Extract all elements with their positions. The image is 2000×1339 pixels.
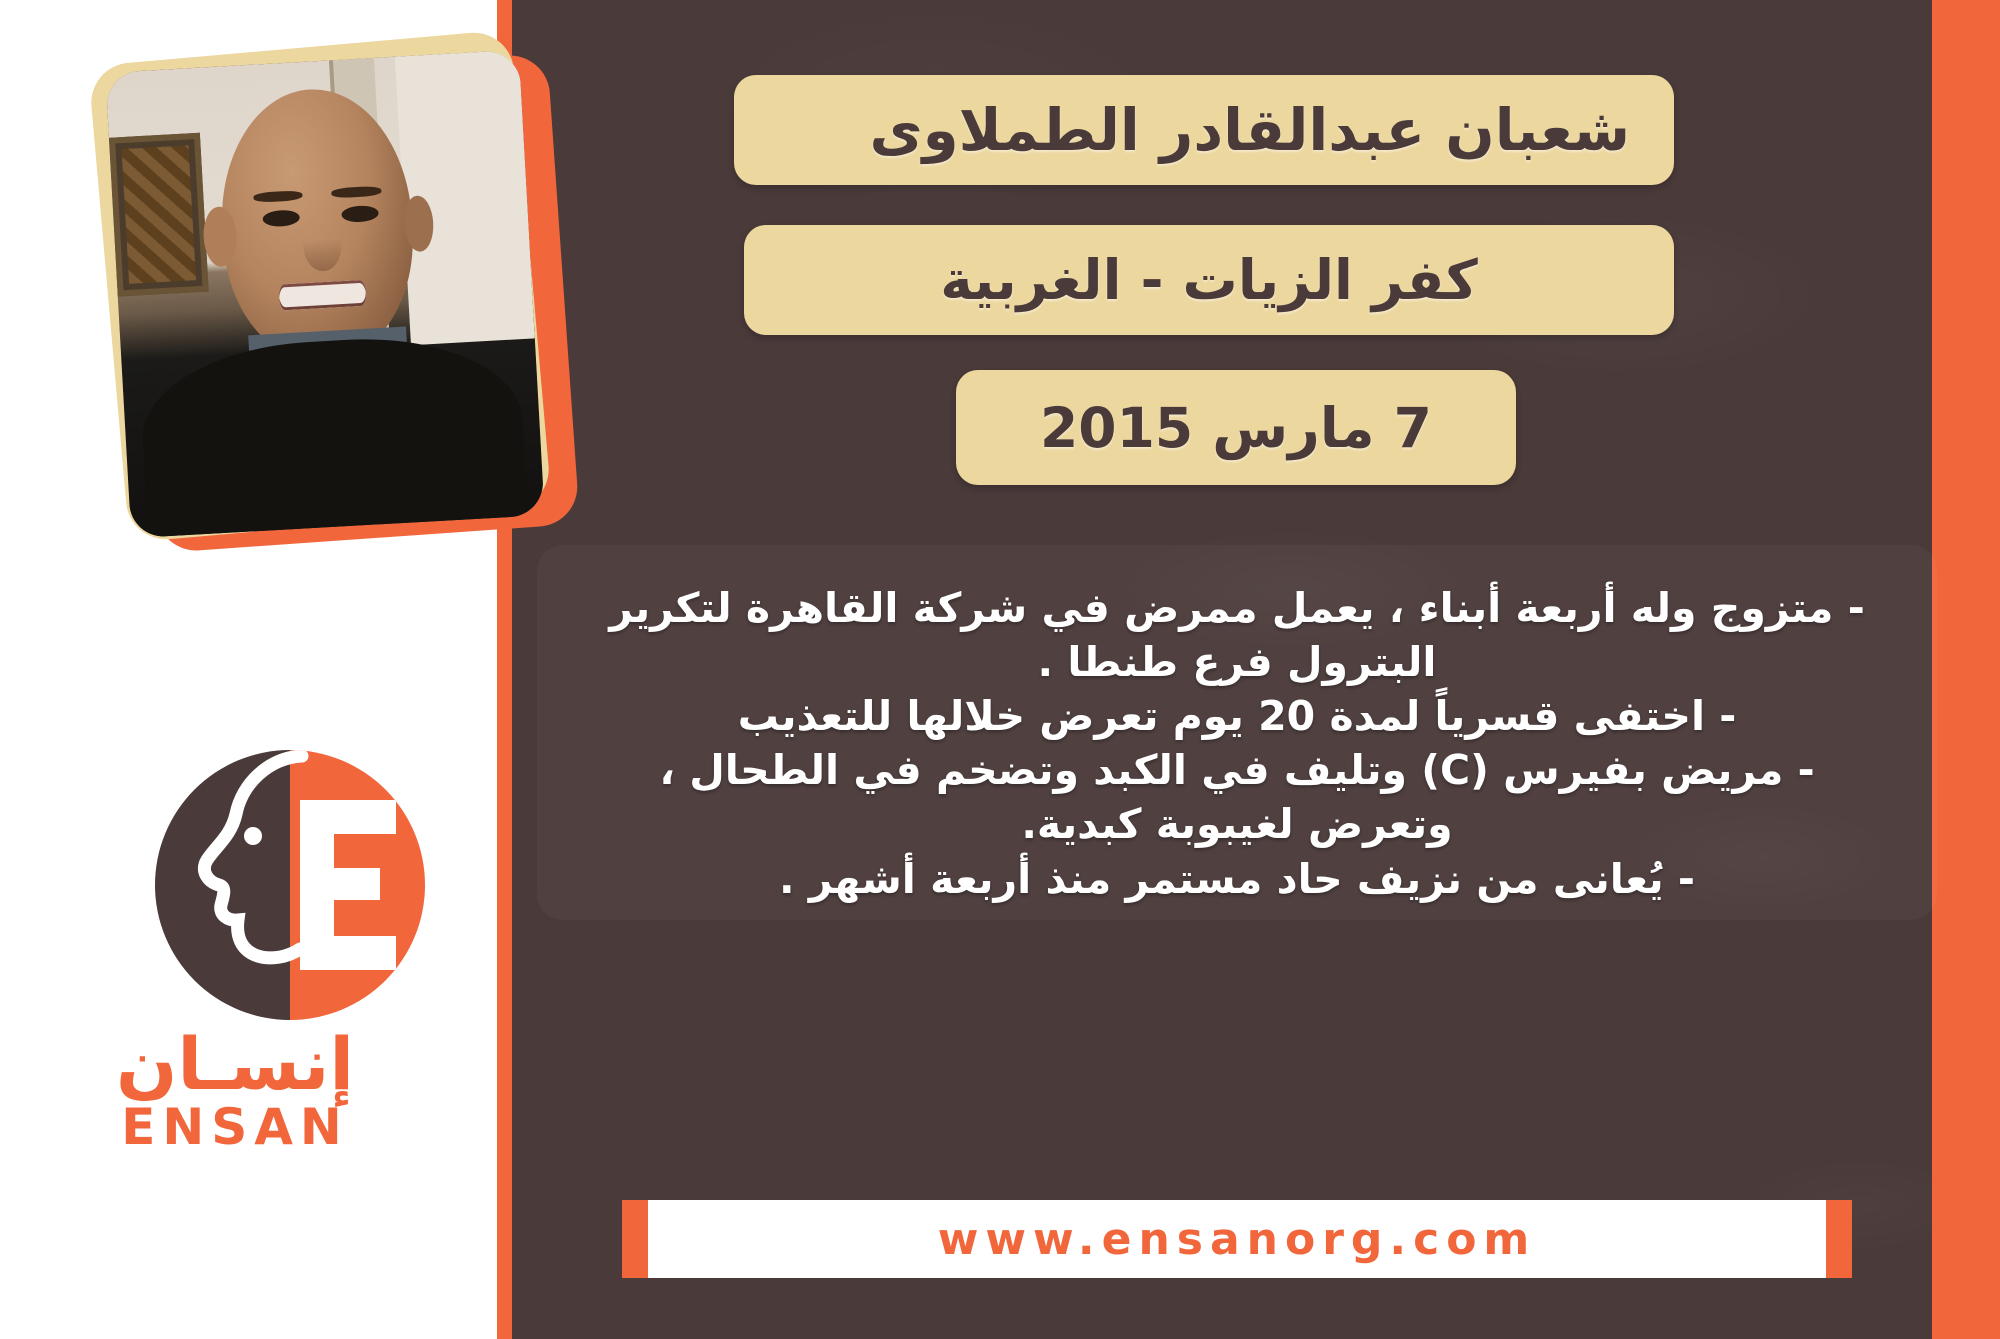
details-text: - متزوج وله أربعة أبناء ، يعمل ممرض في ش… (585, 581, 1889, 906)
profile-date: 7 مارس 2015 (1000, 396, 1472, 460)
name-bar: شعبان عبدالقادر الطملاوى (734, 75, 1674, 185)
footer-cap-end (622, 1200, 648, 1278)
website-url-container[interactable]: www.ensanorg.com (648, 1200, 1826, 1278)
photo-frame (100, 35, 570, 555)
profile-poster: شعبان عبدالقادر الطملاوى كفر الزيات - ال… (0, 0, 2000, 1339)
ensan-logo-arabic: إنسـان (70, 1022, 400, 1106)
date-bar: 7 مارس 2015 (956, 370, 1516, 485)
profile-location: كفر الزيات - الغربية (788, 248, 1630, 312)
portrait-photo (105, 50, 544, 538)
ensan-logo-latin: ENSAN (70, 1098, 400, 1156)
footer-cap-start (1826, 1200, 1852, 1278)
profile-name: شعبان عبدالقادر الطملاوى (869, 96, 1630, 164)
ensan-logo: إنسـان ENSAN (70, 740, 450, 1160)
details-card: - متزوج وله أربعة أبناء ، يعمل ممرض في ش… (537, 545, 1937, 920)
website-bar[interactable]: www.ensanorg.com (622, 1200, 1852, 1278)
ensan-logo-mark (150, 740, 450, 1030)
info-column: شعبان عبدالقادر الطملاوى كفر الزيات - ال… (512, 0, 2000, 1339)
website-url[interactable]: www.ensanorg.com (938, 1214, 1537, 1265)
location-bar: كفر الزيات - الغربية (744, 225, 1674, 335)
